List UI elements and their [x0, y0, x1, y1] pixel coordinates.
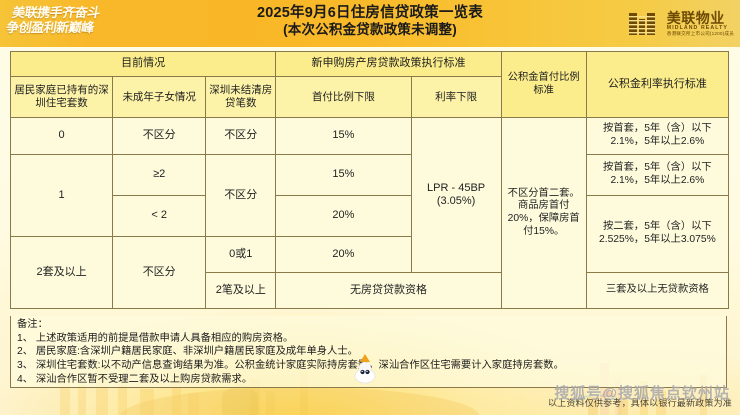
logo-name-cn: 美联物业 — [667, 12, 734, 27]
cell-owned-units: 1 — [11, 155, 113, 237]
header-fund-downpayment: 公积金首付比例标准 — [501, 52, 586, 118]
mascot-icon — [352, 352, 378, 384]
page-title: 2025年9月6日住房信贷政策一览表 (本次公积金贷款政策未调整) — [150, 4, 590, 39]
calligraphy-slogan: 美联携手齐奋斗 争创盈利新巅峰 — [6, 2, 124, 47]
policy-table-wrapper: 目前情况 新申购房产房贷款政策执行标准 公积金首付比例标准 公积金利率执行标准 … — [10, 51, 729, 309]
calligraphy-line-1: 美联携手齐奋斗 — [11, 7, 125, 20]
note-item: 1、 上述政策适用的前提是借款申请人具备相应的购房资格。 — [17, 332, 720, 346]
cell-downpayment-floor: 20% — [276, 237, 411, 273]
header-unsettled-loans: 深圳未结清房贷笔数 — [206, 77, 276, 118]
calligraphy-line-2: 争创盈利新巅峰 — [5, 22, 125, 35]
header-owned-units: 居民家庭已持有的深圳住宅套数 — [11, 77, 113, 118]
cell-minor-children: ≥2 — [113, 155, 206, 196]
header-new-purchase-standard: 新申购房产房贷款政策执行标准 — [276, 52, 501, 77]
cell-unsettled-loans: 不区分 — [206, 155, 276, 237]
cell-owned-units: 0 — [11, 118, 113, 155]
cell-owned-units: 2套及以上 — [11, 237, 113, 309]
cell-fund-rate: 按首套，5年（含）以下2.1%，5年以上2.6% — [586, 118, 728, 155]
cell-rate-floor-merged: LPR - 45BP (3.05%) — [411, 118, 501, 273]
page-banner: 美联携手齐奋斗 争创盈利新巅峰 2025年9月6日住房信贷政策一览表 (本次公积… — [0, 0, 740, 47]
cell-minor-children: 不区分 — [113, 118, 206, 155]
midland-logo-icon — [629, 11, 663, 37]
header-downpayment-floor: 首付比例下限 — [276, 77, 411, 118]
cell-unsettled-loans: 0或1 — [206, 237, 276, 273]
rate-floor-line-2: (3.05%) — [414, 195, 499, 208]
cell-minor-children: 不区分 — [113, 237, 206, 309]
cell-fund-rate: 按首套，5年（含）以下2.1%，5年以上2.6% — [586, 155, 728, 196]
cell-fund-rate: 三套及以上无贷款资格 — [586, 273, 728, 309]
rate-floor-line-1: LPR - 45BP — [414, 182, 499, 195]
cell-downpayment-floor: 15% — [276, 118, 411, 155]
table-row: 0 不区分 不区分 15% LPR - 45BP (3.05%) 不区分首二套。… — [11, 118, 729, 155]
cell-fund-downpayment-merged: 不区分首二套。商品房首付20%，保障房首付15%。 — [501, 118, 586, 309]
cell-unsettled-loans: 不区分 — [206, 118, 276, 155]
cell-downpayment-floor: 20% — [276, 196, 411, 237]
cell-downpayment-floor: 15% — [276, 155, 411, 196]
cell-fund-rate: 按二套，5年（含）以下2.525%，5年以上3.075% — [586, 196, 728, 273]
cell-minor-children: < 2 — [113, 196, 206, 237]
logo-subtitle: 香港联交所上市公司(1200)成员 — [667, 32, 734, 37]
header-current-situation: 目前情况 — [11, 52, 276, 77]
table-group-header-row: 目前情况 新申购房产房贷款政策执行标准 公积金首付比例标准 公积金利率执行标准 — [11, 52, 729, 77]
header-rate-floor: 利率下限 — [411, 77, 501, 118]
cell-downpayment-floor: 无房贷贷款资格 — [276, 273, 501, 309]
notes-title: 备注： — [17, 318, 720, 332]
header-minor-children: 未成年子女情况 — [113, 77, 206, 118]
cell-unsettled-loans: 2笔及以上 — [206, 273, 276, 309]
table-row: < 2 20% 按二套，5年（含）以下2.525%，5年以上3.075% — [11, 196, 729, 237]
header-fund-rate: 公积金利率执行标准 — [586, 52, 728, 118]
table-row: 1 ≥2 不区分 15% 按首套，5年（含）以下2.1%，5年以上2.6% — [11, 155, 729, 196]
policy-table: 目前情况 新申购房产房贷款政策执行标准 公积金首付比例标准 公积金利率执行标准 … — [10, 51, 729, 309]
footer-disclaimer: 以上资料仅供参考，具体以银行最新政策为准 — [548, 396, 732, 409]
brand-logo: 美联物业 MIDLAND REALTY 香港联交所上市公司(1200)成员 — [629, 4, 734, 44]
page-title-sub: (本次公积金贷款政策未调整) — [150, 22, 590, 39]
page-title-main: 2025年9月6日住房信贷政策一览表 — [150, 4, 590, 22]
page-root: 美联携手齐奋斗 争创盈利新巅峰 2025年9月6日住房信贷政策一览表 (本次公积… — [0, 0, 740, 415]
